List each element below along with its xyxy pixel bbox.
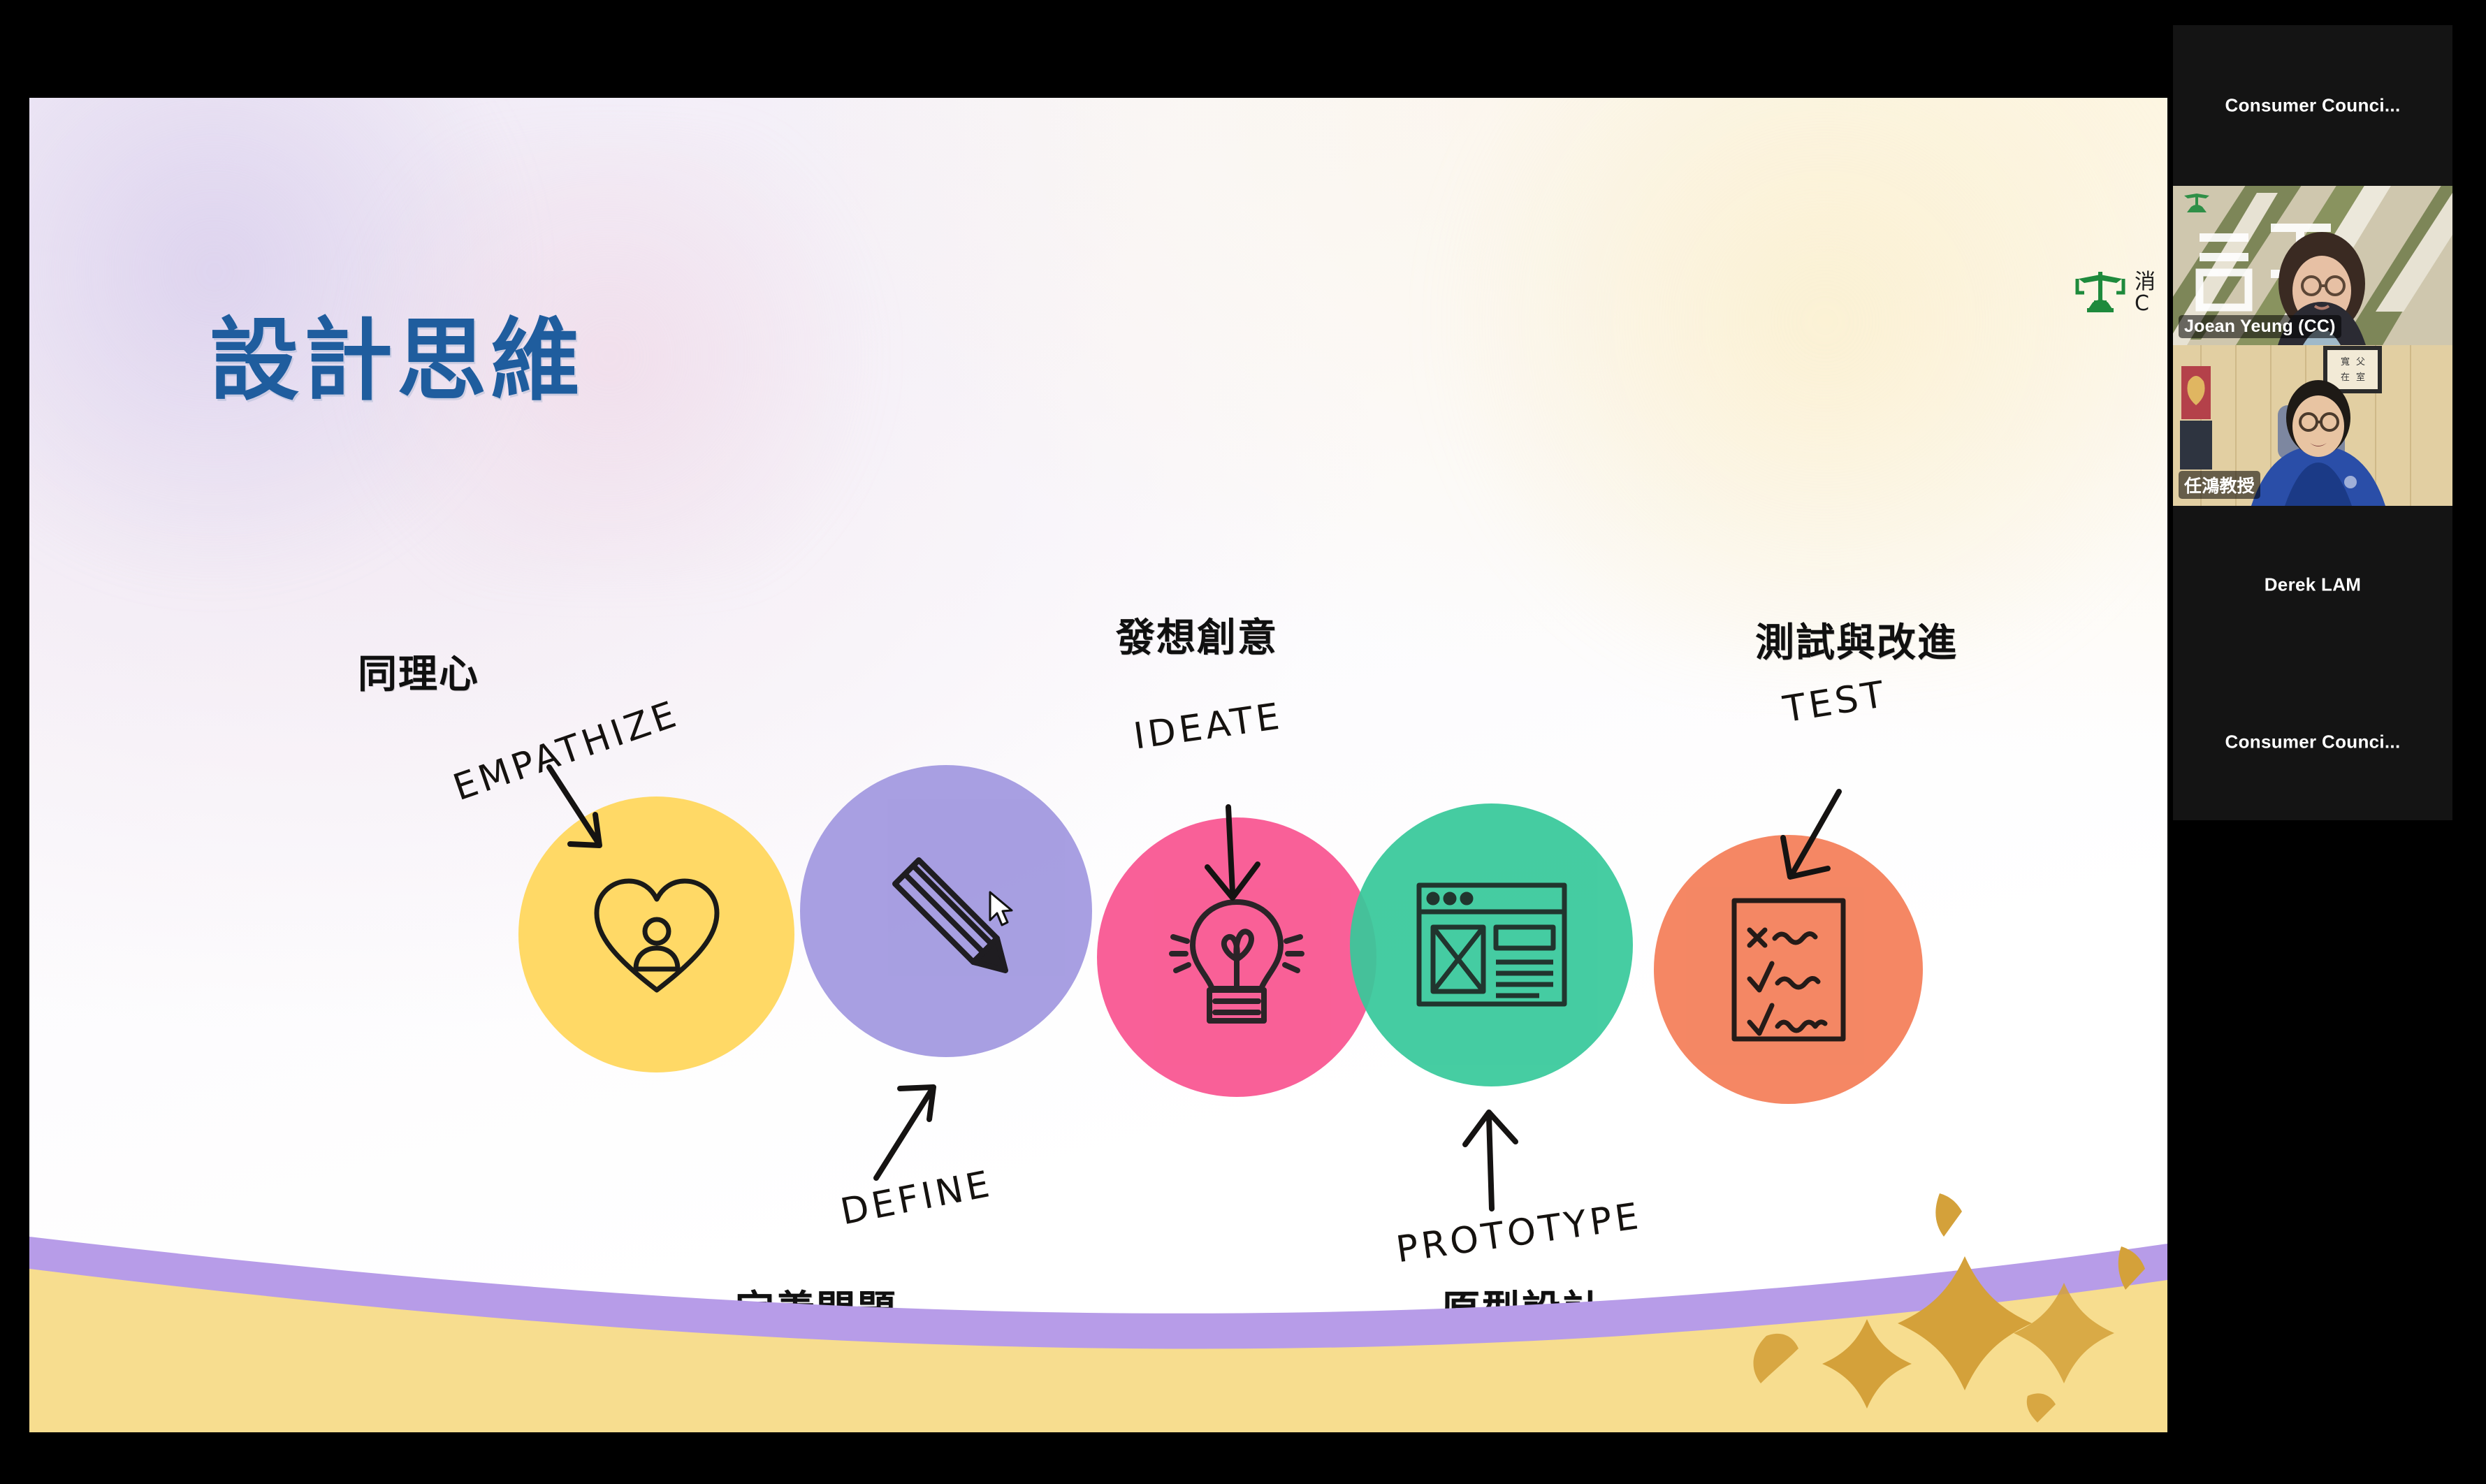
wireframe-browser-icon bbox=[1409, 875, 1574, 1015]
participant-tile-5[interactable]: Consumer Counci... bbox=[2173, 663, 2452, 820]
stage-circle-define bbox=[800, 765, 1092, 1057]
participant-tile-3[interactable]: 寬父 在室 任鴻教授 bbox=[2173, 345, 2452, 506]
presentation-slide: 設計思維 消 C bbox=[29, 98, 2167, 1432]
participant-name: Consumer Counci... bbox=[2173, 731, 2452, 752]
decorative-cream-blob bbox=[1371, 98, 2167, 671]
page-title: 設計思維 bbox=[210, 288, 584, 417]
stage-circle-prototype bbox=[1350, 803, 1633, 1086]
screen-share-stage: 設計思維 消 C bbox=[0, 0, 2486, 1484]
svg-text:寬: 寬 bbox=[2341, 356, 2350, 368]
stage-label-ideate-en: IDEATE bbox=[1131, 695, 1286, 757]
stage-label-test-en: TEST bbox=[1780, 674, 1890, 732]
pencil-icon bbox=[866, 831, 1026, 991]
svg-text:在: 在 bbox=[2341, 372, 2350, 383]
scales-icon bbox=[2073, 269, 2128, 317]
participant-name: Joean Yeung (CC) bbox=[2179, 315, 2341, 338]
heart-person-icon bbox=[587, 871, 727, 998]
arrow-down-left-icon bbox=[1769, 779, 1860, 891]
stage-label-ideate-zh: 發想創意 bbox=[1116, 606, 1278, 663]
stage-label-test-zh: 測試與改進 bbox=[1755, 611, 1958, 668]
logo-text: 消 C bbox=[2135, 271, 2156, 314]
consumer-council-logo: 消 C bbox=[2073, 269, 2156, 317]
arrow-down-icon bbox=[1189, 800, 1273, 912]
decorative-waves bbox=[29, 1139, 2167, 1432]
participant-tile-2[interactable]: Joean Yeung (CC) bbox=[2173, 186, 2452, 345]
stage-label-empathize-zh: 同理心 bbox=[358, 643, 479, 699]
participant-tile-1[interactable]: Consumer Counci... bbox=[2173, 25, 2452, 186]
participant-name: Derek LAM bbox=[2173, 574, 2452, 595]
participant-filmstrip[interactable]: Consumer Counci... bbox=[2173, 25, 2452, 820]
participant-name: 任鴻教授 bbox=[2179, 471, 2260, 499]
svg-text:父: 父 bbox=[2356, 357, 2365, 368]
arrow-down-right-icon bbox=[531, 755, 629, 866]
svg-text:室: 室 bbox=[2356, 372, 2365, 383]
participant-name: Consumer Counci... bbox=[2173, 95, 2452, 117]
checklist-icon bbox=[1719, 889, 1859, 1050]
participant-tile-4[interactable]: Derek LAM bbox=[2173, 506, 2452, 663]
gold-sparkles-icon bbox=[1636, 1153, 2167, 1432]
